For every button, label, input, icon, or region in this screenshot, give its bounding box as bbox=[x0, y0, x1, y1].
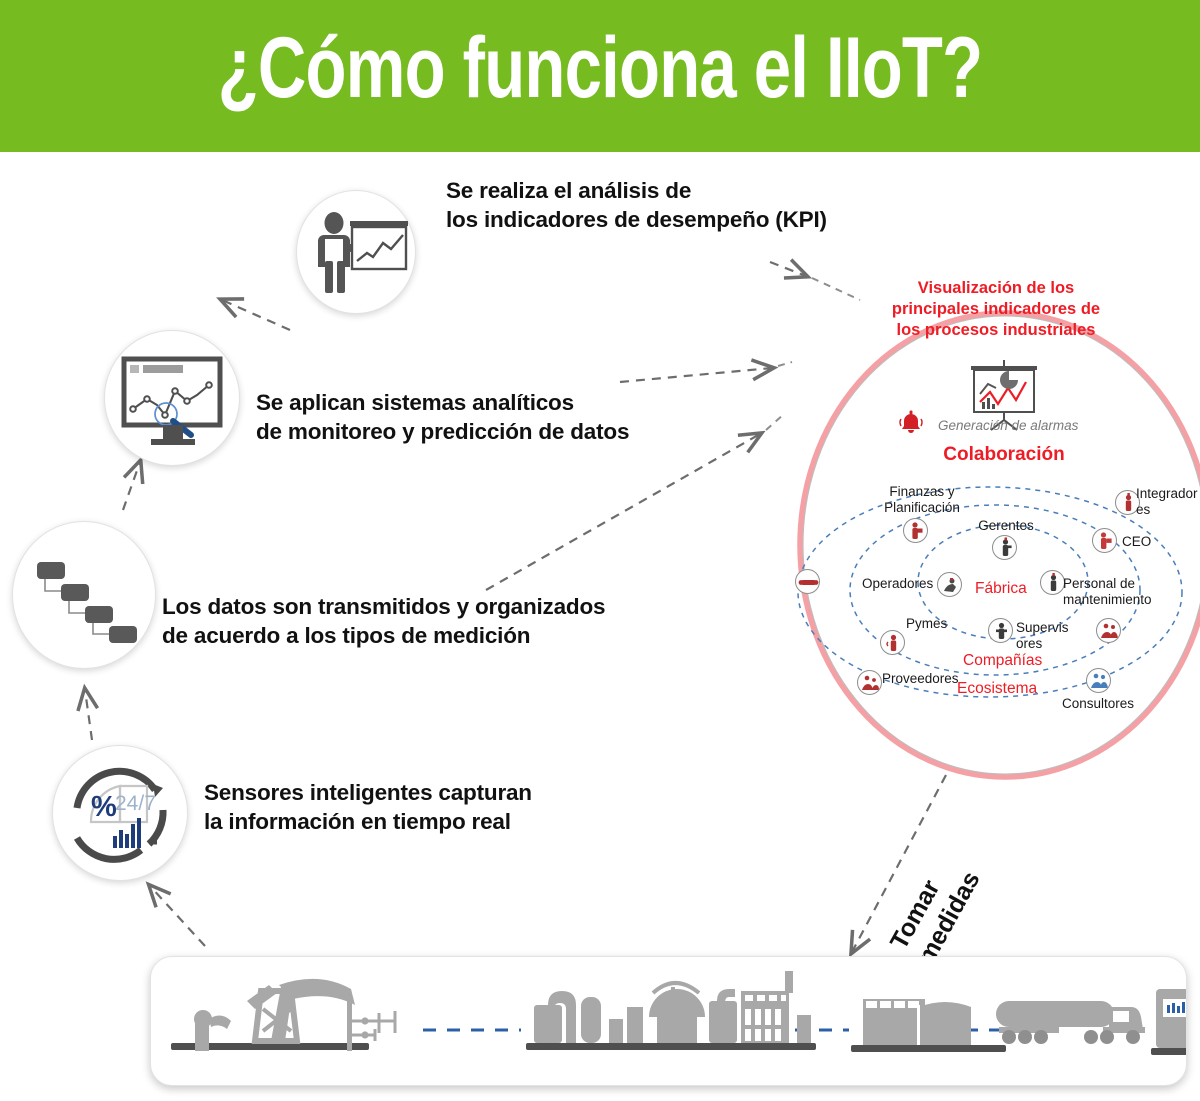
presenter-chart-icon bbox=[297, 191, 415, 313]
person-operator-icon[interactable] bbox=[937, 572, 962, 597]
step-label-kpi: Se realiza el análisis de los indicadore… bbox=[446, 176, 946, 234]
header-banner: ¿Cómo funciona el IIoT? bbox=[0, 0, 1200, 152]
arrow-analytics-to-collab bbox=[620, 368, 772, 382]
step-icon-analytics bbox=[104, 330, 240, 466]
arrow-chain-to-sensors bbox=[150, 886, 205, 946]
step-label-sensors: Sensores inteligentes capturan la inform… bbox=[204, 778, 724, 836]
role-label-pymes: Pymes bbox=[906, 616, 947, 632]
person-ceo-icon[interactable] bbox=[1092, 528, 1117, 553]
role-label-integradores: Integrador es bbox=[1136, 486, 1198, 518]
ring-label-ecosistema: Ecosistema bbox=[957, 680, 1037, 698]
person-sme-icon[interactable] bbox=[880, 630, 905, 655]
ring-label-companias: Compañías bbox=[963, 652, 1042, 670]
role-label-ceo: CEO bbox=[1122, 534, 1151, 550]
role-label-consultores: Consultores bbox=[1062, 696, 1134, 712]
collaboration-title: Colaboración bbox=[894, 444, 1114, 466]
person-finance-icon[interactable] bbox=[903, 518, 928, 543]
people-suppliers-icon[interactable] bbox=[857, 670, 882, 695]
role-label-mantenimiento: Personal de mantenimiento bbox=[1063, 576, 1152, 608]
role-label-operadores: Operadores bbox=[862, 576, 933, 592]
svg-text:24/7: 24/7 bbox=[115, 792, 156, 815]
refinery-plant-icon bbox=[526, 971, 816, 1050]
person-supervisor-icon[interactable] bbox=[988, 618, 1013, 643]
storage-tanks-icon bbox=[851, 999, 1006, 1052]
arrow-kpi-to-collab bbox=[770, 262, 806, 276]
data-blocks-icon bbox=[13, 522, 155, 668]
svg-text:%: % bbox=[91, 791, 117, 823]
gas-station-car-icon bbox=[1151, 979, 1186, 1055]
arrow-data-to-collab bbox=[486, 434, 760, 590]
role-label-finanzas: Finanzas y Planificación bbox=[874, 484, 970, 516]
sensor-247-icon: % 24/7 bbox=[53, 746, 187, 880]
tomar-medidas-label: Tomar medidas bbox=[884, 851, 987, 970]
role-label-supervisores: Supervis ores bbox=[1016, 620, 1069, 652]
value-chain-panel bbox=[150, 956, 1187, 1086]
value-chain-illustration bbox=[151, 957, 1186, 1085]
tanker-truck-icon bbox=[996, 1001, 1145, 1044]
role-label-proveedores: Proveedores bbox=[882, 671, 959, 687]
person-manager-icon[interactable] bbox=[992, 535, 1017, 560]
alarm-bell-icon bbox=[896, 408, 926, 438]
group-team-icon[interactable] bbox=[1096, 618, 1121, 643]
arrow-analytics-to-kpi bbox=[222, 300, 290, 330]
page-title: ¿Cómo funciona el IIoT? bbox=[132, 18, 1068, 118]
step-icon-data bbox=[12, 521, 156, 669]
alarm-generation-label: Generación de alarmas bbox=[938, 418, 1078, 433]
step-label-analytics: Se aplican sistemas analíticos de monito… bbox=[256, 388, 776, 446]
step-icon-kpi bbox=[296, 190, 416, 314]
collaboration-heading: Visualización de los principales indicad… bbox=[868, 278, 1124, 341]
monitor-analytics-icon bbox=[105, 331, 239, 465]
oil-pumpjack-icon bbox=[171, 979, 395, 1051]
pipeline-node-icon[interactable] bbox=[795, 569, 820, 594]
step-icon-sensors: % 24/7 bbox=[52, 745, 188, 881]
arrow-tail-kpi bbox=[812, 278, 860, 300]
person-maintenance-icon[interactable] bbox=[1040, 570, 1065, 595]
arrow-sensors-to-data bbox=[85, 690, 92, 740]
role-label-gerentes: Gerentes bbox=[976, 518, 1036, 534]
step-label-data: Los datos son transmitidos y organizados… bbox=[162, 592, 742, 650]
people-consultants-icon[interactable] bbox=[1086, 668, 1111, 693]
ring-label-fabrica: Fábrica bbox=[975, 580, 1027, 598]
arrow-data-to-analytics bbox=[123, 462, 140, 510]
